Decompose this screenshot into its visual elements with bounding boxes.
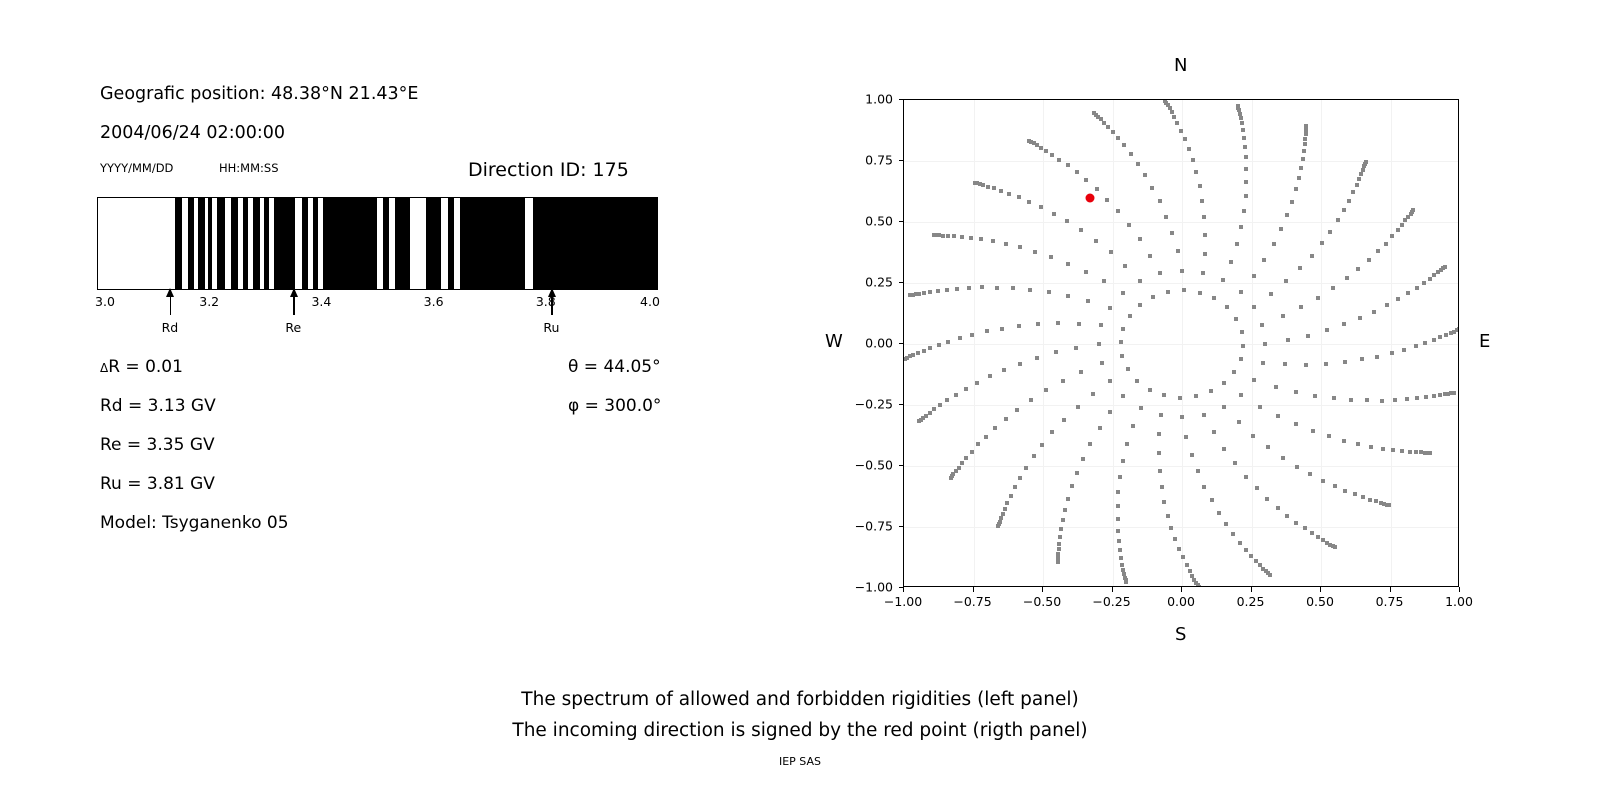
direction-dot (1209, 389, 1213, 393)
y-tick-mark (899, 282, 904, 283)
direction-dot (1057, 158, 1061, 162)
direction-dot (1066, 294, 1070, 298)
direction-dot (1050, 153, 1054, 157)
forbidden-band (460, 198, 525, 289)
x-tick-mark (903, 587, 904, 592)
direction-dot (976, 442, 980, 446)
direction-dot (1202, 485, 1206, 489)
y-tick-label: 0.25 (841, 275, 893, 290)
direction-dot (1415, 286, 1419, 290)
direction-dot (1182, 288, 1186, 292)
direction-dot (1422, 281, 1426, 285)
direction-dot (1327, 434, 1331, 438)
forbidden-band (533, 198, 658, 289)
direction-dot (1376, 249, 1380, 253)
direction-dot (1170, 110, 1174, 114)
direction-dot (1301, 157, 1305, 161)
spectrum-xtick-label: 3.2 (199, 294, 219, 309)
direction-dot (1198, 291, 1202, 295)
direction-dot (1062, 418, 1066, 422)
direction-dot (964, 387, 968, 391)
direction-dot (1163, 99, 1167, 103)
direction-dot (979, 237, 983, 241)
direction-dot (1349, 398, 1353, 402)
x-tick-label: 1.00 (1445, 594, 1473, 609)
direction-dot (1342, 322, 1346, 326)
direction-dot (1176, 249, 1180, 253)
direction-dot (1239, 290, 1243, 294)
direction-dot (1040, 443, 1044, 447)
direction-dot (1004, 242, 1008, 246)
direction-dot (1265, 497, 1269, 501)
direction-dot (1122, 143, 1126, 147)
direction-dot (922, 349, 926, 353)
direction-dot (1018, 476, 1022, 480)
direction-dot (1102, 121, 1106, 125)
direction-dot (1059, 527, 1063, 531)
direction-dot (1263, 342, 1267, 346)
arrow-up-icon (166, 288, 174, 297)
direction-dot (1299, 166, 1303, 170)
direction-dot (1222, 447, 1226, 451)
direction-dot (1390, 234, 1394, 238)
direction-dot (1244, 548, 1248, 552)
direction-dot (1438, 393, 1442, 397)
forbidden-band (302, 198, 309, 289)
selected-direction-marker (1086, 193, 1095, 202)
direction-dot (975, 381, 979, 385)
forbidden-band (231, 198, 238, 289)
direction-dot (1119, 340, 1123, 344)
direction-dot (1310, 531, 1314, 535)
gridline-vertical (1321, 100, 1322, 586)
direction-dot (1092, 111, 1096, 115)
gridline-vertical (1113, 100, 1114, 586)
direction-dot (1177, 547, 1181, 551)
direction-dot (1342, 439, 1346, 443)
direction-dot (1039, 146, 1043, 150)
direction-dot (1432, 394, 1436, 398)
direction-dot (1079, 370, 1083, 374)
direction-dot (911, 353, 915, 357)
direction-dot (1369, 445, 1373, 449)
direction-dot (1276, 414, 1280, 418)
x-tick-mark (1112, 587, 1113, 592)
direction-dot (1024, 466, 1028, 470)
direction-dot (1121, 291, 1125, 295)
y-tick-mark (899, 160, 904, 161)
direction-dot (1166, 290, 1170, 294)
direction-dot (1237, 420, 1241, 424)
direction-dot (1333, 545, 1337, 549)
direction-dot (922, 291, 926, 295)
forbidden-band (448, 198, 454, 289)
direction-dot (1173, 537, 1177, 541)
direction-dot (1129, 152, 1133, 156)
direction-dot (1029, 398, 1033, 402)
direction-dot (1299, 305, 1303, 309)
direction-dot (1258, 405, 1262, 409)
direction-dot (1342, 208, 1346, 212)
direction-dot (1196, 469, 1200, 473)
y-tick-label: 0.00 (841, 336, 893, 351)
direction-dot (1242, 209, 1246, 213)
direction-dot (993, 426, 997, 430)
direction-dot (1203, 233, 1207, 237)
y-tick-label: −0.50 (841, 458, 893, 473)
direction-dot (1032, 454, 1036, 458)
forbidden-band (253, 198, 260, 289)
forbidden-band (175, 198, 182, 289)
direction-dot (1444, 333, 1448, 337)
direction-dot (1316, 535, 1320, 539)
direction-dot (1252, 378, 1256, 382)
direction-dot (1075, 471, 1079, 475)
x-tick-label: −0.25 (1092, 594, 1130, 609)
direction-dot (1185, 563, 1189, 567)
direction-dot (1393, 398, 1397, 402)
x-tick-label: 0.75 (1376, 594, 1404, 609)
direction-dot (1274, 385, 1278, 389)
direction-dot (1197, 585, 1201, 587)
direction-dot (1234, 317, 1238, 321)
direction-dot (928, 290, 932, 294)
direction-dot (1236, 104, 1240, 108)
direction-dot (932, 233, 936, 237)
compass-label-west: W (825, 331, 843, 352)
direction-dot (1061, 518, 1065, 522)
direction-dot (1336, 218, 1340, 222)
direction-dot (1184, 435, 1188, 439)
direction-dot (1066, 262, 1070, 266)
direction-dot (1272, 242, 1276, 246)
direction-dot (1044, 149, 1048, 153)
direction-dot (1381, 447, 1385, 451)
direction-dot (1002, 368, 1006, 372)
direction-dot (960, 235, 964, 239)
direction-dot (1091, 392, 1095, 396)
direction-dot (1423, 341, 1427, 345)
direction-dot (1244, 180, 1248, 184)
direction-dot (1402, 348, 1406, 352)
direction-dot (1225, 305, 1229, 309)
direction-dot (1116, 209, 1120, 213)
x-tick-label: −0.75 (953, 594, 991, 609)
direction-dot (908, 293, 912, 297)
direction-dot (1222, 405, 1226, 409)
forbidden-band (274, 198, 295, 289)
direction-dot (1027, 200, 1031, 204)
direction-dot (1180, 269, 1184, 273)
direction-dot (1108, 379, 1112, 383)
footer-credit: IEP SAS (0, 755, 1600, 768)
direction-dot (1179, 129, 1183, 133)
y-tick-mark (899, 465, 904, 466)
direction-dot (1238, 112, 1242, 116)
direction-dot (1294, 390, 1298, 394)
direction-dot (960, 461, 964, 465)
direction-dot (1310, 254, 1314, 258)
direction-dot (1128, 314, 1132, 318)
direction-dot (1343, 489, 1347, 493)
direction-dot (1111, 130, 1115, 134)
direction-dot (1364, 160, 1368, 164)
direction-dot (1057, 542, 1061, 546)
direction-dot (1252, 305, 1256, 309)
direction-dot (1052, 212, 1056, 216)
direction-dot (1285, 213, 1289, 217)
direction-dot (1268, 573, 1272, 577)
direction-dot (1120, 354, 1124, 358)
y-tick-label: −0.25 (841, 397, 893, 412)
direction-dot (1058, 535, 1062, 539)
compass-label-east: E (1479, 331, 1490, 352)
direction-dot (1241, 344, 1245, 348)
direction-dot (969, 236, 973, 240)
direction-dot (1316, 296, 1320, 300)
direction-dot (1241, 128, 1245, 132)
direction-dot (1343, 360, 1347, 364)
direction-dot (1191, 158, 1195, 162)
direction-dot (1235, 242, 1239, 246)
direction-dot (1353, 492, 1357, 496)
direction-dot (1100, 361, 1104, 365)
direction-dot (937, 343, 941, 347)
direction-dot (1125, 442, 1129, 446)
direction-dot (1121, 327, 1125, 331)
param-delta-r-value: R = 0.01 (108, 357, 183, 377)
gridline-horizontal (904, 405, 1458, 406)
direction-dot (1400, 449, 1404, 453)
forbidden-band (208, 198, 212, 289)
direction-dot (1116, 529, 1120, 533)
direction-dot (1411, 208, 1415, 212)
direction-dot (917, 292, 921, 296)
delta-symbol: Δ (100, 361, 108, 375)
figure-caption: The spectrum of allowed and forbidden ri… (0, 684, 1600, 746)
direction-dot (1178, 396, 1182, 400)
direction-dot (1079, 228, 1083, 232)
direction-dot (1086, 299, 1090, 303)
direction-dot (1432, 338, 1436, 342)
direction-dot (1066, 497, 1070, 501)
direction-dot (1306, 334, 1310, 338)
direction-dot (954, 393, 958, 397)
direction-dot (1017, 324, 1021, 328)
direction-dot (1396, 297, 1400, 301)
direction-dot (1239, 116, 1243, 120)
spectrum-xtick-label: 3.0 (95, 294, 115, 309)
direction-dot (1117, 539, 1121, 543)
direction-dot (955, 287, 959, 291)
direction-dot (1281, 456, 1285, 460)
direction-dot (1359, 172, 1363, 176)
direction-dot (1054, 350, 1058, 354)
direction-dot (1375, 355, 1379, 359)
x-tick-label: 0.00 (1167, 594, 1195, 609)
direction-dot (1151, 295, 1155, 299)
direction-dot (1194, 170, 1198, 174)
x-tick-mark (1320, 587, 1321, 592)
gridline-vertical (1182, 100, 1183, 586)
direction-dot (1200, 199, 1204, 203)
param-re: Re = 3.35 GV (100, 435, 215, 455)
direction-dot (1105, 198, 1109, 202)
direction-dot (1166, 514, 1170, 518)
direction-dot (1239, 357, 1243, 361)
direction-dot (1232, 370, 1236, 374)
direction-dot (1013, 485, 1017, 489)
direction-dot (1000, 327, 1004, 331)
direction-dot (1356, 267, 1360, 271)
direction-dot (1269, 292, 1273, 296)
direction-map-panel: −1.00−0.75−0.50−0.250.000.250.500.751.00… (800, 0, 1600, 660)
forbidden-band (395, 198, 410, 289)
direction-dot (1143, 173, 1147, 177)
direction-dot (1203, 252, 1207, 256)
direction-dot (1118, 475, 1122, 479)
direction-dot (1358, 316, 1362, 320)
direction-dot (1290, 200, 1294, 204)
direction-dot (1356, 442, 1360, 446)
direction-dot (1056, 321, 1060, 325)
direction-dot (1321, 479, 1325, 483)
direction-dot (1065, 219, 1069, 223)
direction-dot (1355, 183, 1359, 187)
direction-dot (1098, 426, 1102, 430)
direction-dot (1396, 228, 1400, 232)
direction-dot (1198, 184, 1202, 188)
param-ru: Ru = 3.81 GV (100, 474, 215, 494)
date-format-hint: YYYY/MM/DD (100, 161, 173, 175)
direction-dot (1276, 506, 1280, 510)
direction-dot (986, 185, 990, 189)
forbidden-band (313, 198, 317, 289)
direction-dot (1116, 490, 1120, 494)
direction-dot (1380, 399, 1384, 403)
direction-dot (1238, 541, 1242, 545)
marker-label: Re (285, 320, 301, 335)
caption-line-2: The incoming direction is signed by the … (0, 715, 1600, 746)
direction-dot (1261, 361, 1265, 365)
direction-dot (1123, 264, 1127, 268)
spectrum-xtick-label: 3.4 (311, 294, 331, 309)
direction-dot (1212, 296, 1216, 300)
direction-dot (1148, 254, 1152, 258)
direction-dot (1139, 406, 1143, 410)
direction-dot (1011, 286, 1015, 290)
direction-dot (1414, 450, 1418, 454)
direction-dot (995, 286, 999, 290)
datetime-label: 2004/06/24 02:00:00 (100, 123, 285, 143)
y-tick-mark (899, 221, 904, 222)
direction-dot (1328, 230, 1332, 234)
geographic-position-label: Geografic position: 48.38°N 21.43°E (100, 84, 418, 104)
forbidden-band (383, 198, 389, 289)
direction-dot (1180, 415, 1184, 419)
direction-dot (1148, 388, 1152, 392)
y-tick-mark (899, 404, 904, 405)
param-theta: θ = 44.05° (568, 357, 661, 377)
direction-dot (1405, 397, 1409, 401)
x-tick-label: 0.50 (1306, 594, 1334, 609)
direction-dot (1201, 271, 1205, 275)
direction-dot (958, 336, 962, 340)
x-tick-label: −0.50 (1023, 594, 1061, 609)
direction-dot (1368, 498, 1372, 502)
gridline-vertical (1252, 100, 1253, 586)
direction-dot (1158, 199, 1162, 203)
direction-dot (1004, 417, 1008, 421)
direction-dot (1138, 303, 1142, 307)
direction-dot (1157, 432, 1161, 436)
direction-dot (1157, 451, 1161, 455)
direction-dot (1297, 176, 1301, 180)
direction-dot (1414, 344, 1418, 348)
direction-dot (985, 329, 989, 333)
gridline-horizontal (904, 222, 1458, 223)
direction-dot (1170, 231, 1174, 235)
direction-dot (1262, 258, 1266, 262)
param-rd: Rd = 3.13 GV (100, 396, 216, 416)
direction-dot (949, 476, 953, 480)
forbidden-band (323, 198, 377, 289)
direction-dot (1298, 266, 1302, 270)
gridline-vertical (1043, 100, 1044, 586)
x-tick-label: 0.25 (1237, 594, 1265, 609)
direction-dot (1094, 239, 1098, 243)
direction-dot (917, 419, 921, 423)
direction-dot (984, 435, 988, 439)
direction-dot (1005, 501, 1009, 505)
direction-dot (1387, 503, 1391, 507)
direction-dot (1138, 279, 1142, 283)
direction-dot (1251, 434, 1255, 438)
gridline-vertical (1391, 100, 1392, 586)
direction-dot (1162, 393, 1166, 397)
direction-dot (1222, 381, 1226, 385)
direction-dot (945, 288, 949, 292)
direction-dot (1007, 192, 1011, 196)
direction-dot (1126, 367, 1130, 371)
direction-dot (1175, 121, 1179, 125)
arrow-up-icon (548, 288, 556, 297)
direction-dot (1164, 215, 1168, 219)
direction-dot (1324, 362, 1328, 366)
direction-dot (1116, 136, 1120, 140)
direction-dot (1438, 335, 1442, 339)
direction-dot (1018, 362, 1022, 366)
direction-dot (1116, 517, 1120, 521)
y-tick-mark (899, 343, 904, 344)
direction-dot (1294, 187, 1298, 191)
direction-dot (1108, 306, 1112, 310)
direction-dot (1039, 205, 1043, 209)
direction-dot (1303, 137, 1307, 141)
direction-dot (1160, 485, 1164, 489)
direction-dot (1390, 351, 1394, 355)
param-delta-r: ΔR = 0.01 (100, 357, 183, 377)
direction-dot (1224, 522, 1228, 526)
direction-dot (1127, 223, 1131, 227)
gridline-horizontal (904, 161, 1458, 162)
direction-dot (1347, 199, 1351, 203)
arrow-up-icon (290, 288, 298, 297)
rigidity-spectrum-panel: Geografic position: 48.38°N 21.43°E 2004… (0, 0, 800, 660)
direction-dot (1229, 260, 1233, 264)
direction-dot (988, 374, 992, 378)
y-tick-label: −1.00 (841, 580, 893, 595)
